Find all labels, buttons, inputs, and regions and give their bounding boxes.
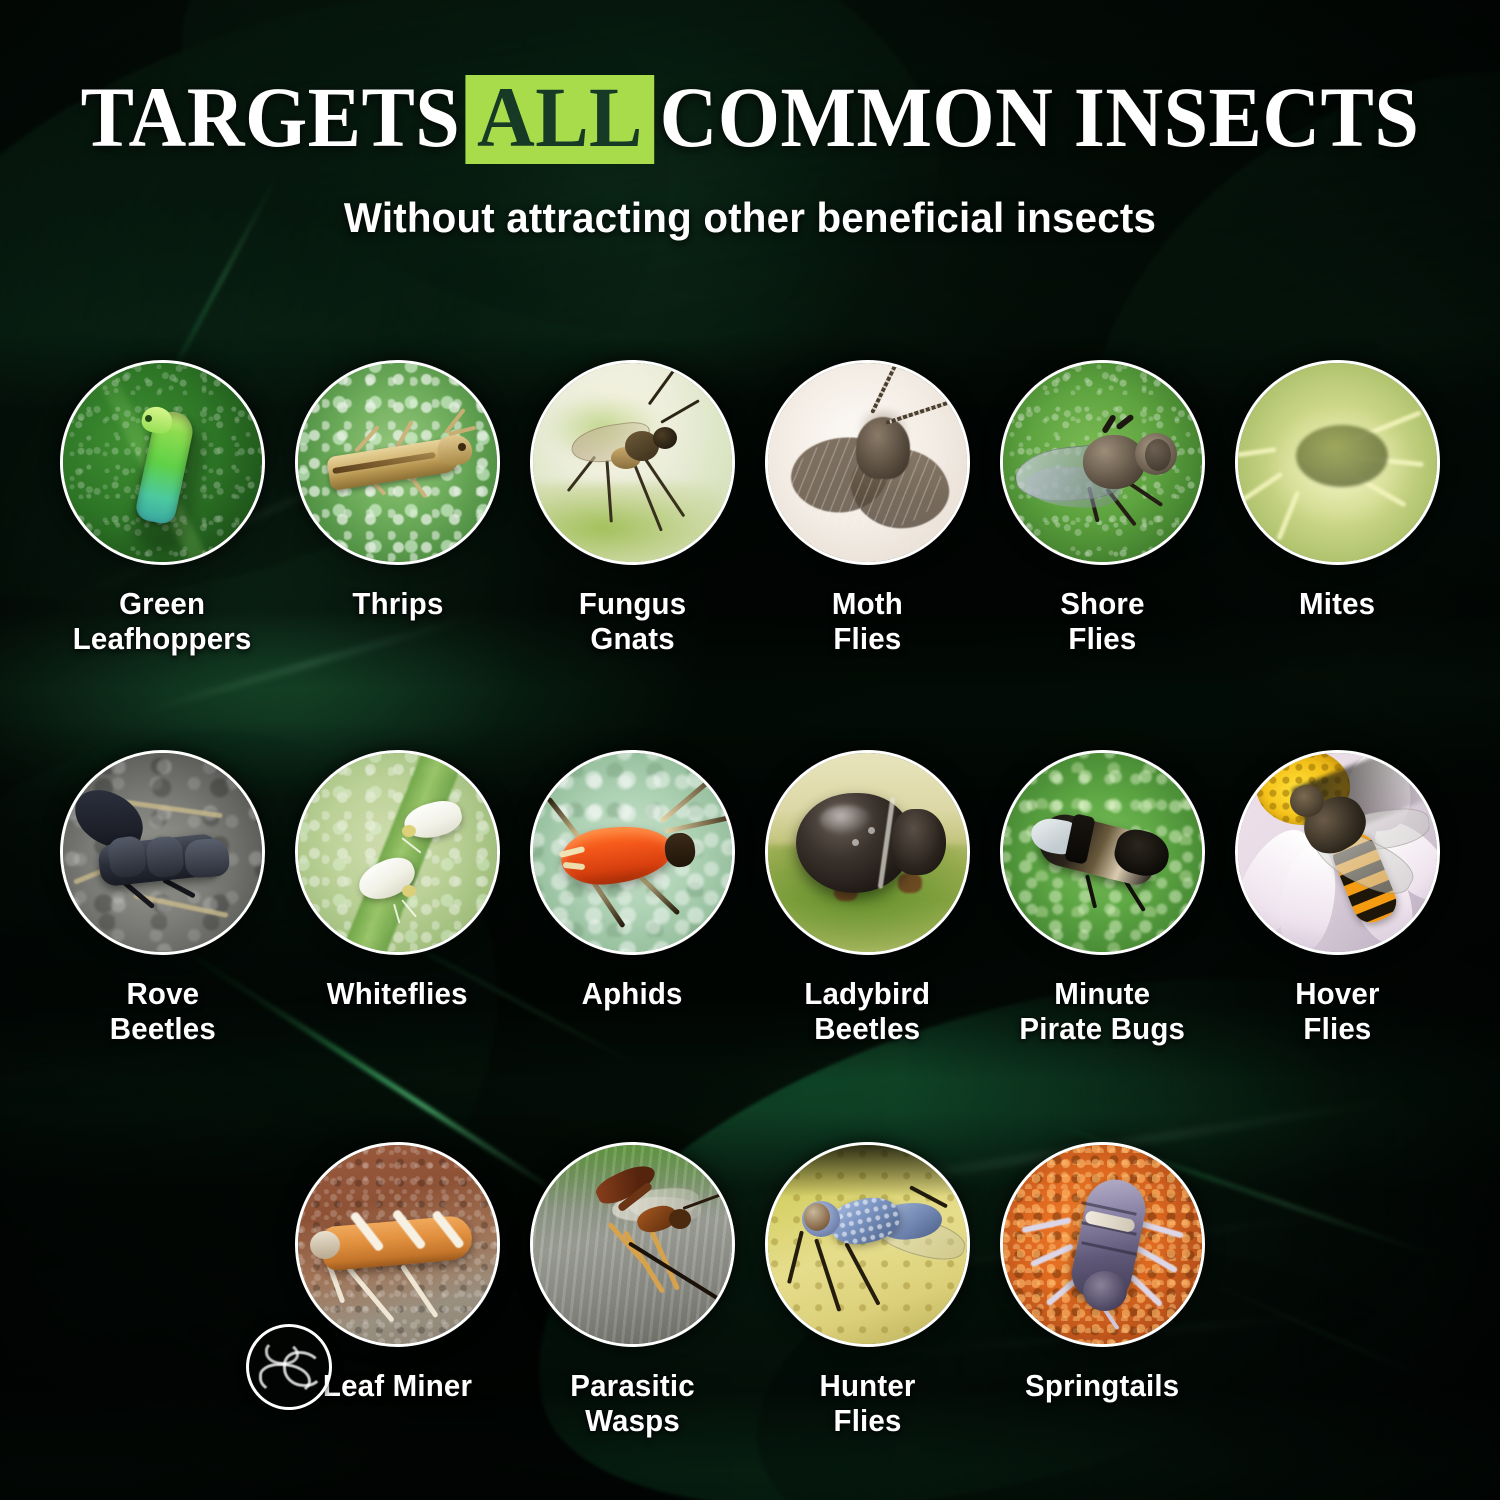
insect-label: Parasitic Wasps: [570, 1369, 695, 1438]
insect-label: Ladybird Beetles: [805, 977, 931, 1046]
insect-cell-springtails[interactable]: Springtails: [985, 1142, 1220, 1438]
springtail-photo: [1000, 1142, 1205, 1347]
insect-label: Fungus Gnats: [579, 587, 686, 656]
insect-cell-whiteflies[interactable]: Whiteflies: [280, 750, 515, 1046]
green-leafhopper-photo: [60, 360, 265, 565]
insect-label: Shore Flies: [1060, 587, 1144, 656]
hover-fly-photo: [1235, 750, 1440, 955]
aphid-photo: [530, 750, 735, 955]
insect-cell-fungus-gnats[interactable]: Fungus Gnats: [515, 360, 750, 656]
insect-label: Mites: [1299, 587, 1375, 622]
insect-target-infographic: TARGETSALLCOMMON INSECTS Without attract…: [0, 0, 1500, 1500]
mined-leaf-inset-photo: [246, 1324, 332, 1410]
insect-cell-minute-pirate-bugs[interactable]: Minute Pirate Bugs: [985, 750, 1220, 1046]
mites-photo: [1235, 360, 1440, 565]
headline-part-2: COMMON INSECTS: [660, 74, 1420, 160]
whitefly-photo: [295, 750, 500, 955]
page-subtitle: Without attracting other beneficial inse…: [30, 194, 1470, 242]
insect-cell-mites[interactable]: Mites: [1220, 360, 1455, 656]
insect-cell-hunter-flies[interactable]: Hunter Flies: [750, 1142, 985, 1438]
insect-cell-rove-beetles[interactable]: Rove Beetles: [45, 750, 280, 1046]
page-title: TARGETSALLCOMMON INSECTS: [53, 74, 1448, 164]
minute-pirate-bug-photo: [1000, 750, 1205, 955]
ladybird-beetle-photo: [765, 750, 970, 955]
insect-label: Leaf Miner: [323, 1369, 472, 1404]
moth-fly-photo: [765, 360, 970, 565]
insect-label: Rove Beetles: [109, 977, 215, 1046]
leaf-miner-photo: [295, 1142, 500, 1347]
insect-cell-shore-flies[interactable]: Shore Flies: [985, 360, 1220, 656]
insect-cell-green-leafhoppers[interactable]: Green Leafhoppers: [45, 360, 280, 656]
insect-cell-hover-flies[interactable]: Hover Flies: [1220, 750, 1455, 1046]
thrips-photo: [295, 360, 500, 565]
insect-label: Hover Flies: [1295, 977, 1379, 1046]
insect-cell-parasitic-wasps[interactable]: Parasitic Wasps: [515, 1142, 750, 1438]
parasitic-wasp-photo: [530, 1142, 735, 1347]
hunter-fly-photo: [765, 1142, 970, 1347]
insect-label: Whiteflies: [327, 977, 468, 1012]
insect-cell-thrips[interactable]: Thrips: [280, 360, 515, 656]
header: TARGETSALLCOMMON INSECTS Without attract…: [0, 74, 1500, 242]
insect-cell-moth-flies[interactable]: Moth Flies: [750, 360, 985, 656]
insect-label: Moth Flies: [832, 587, 903, 656]
insect-row-3: Leaf Miner: [0, 1142, 1500, 1438]
insect-label: Minute Pirate Bugs: [1020, 977, 1186, 1046]
headline-highlight-all: ALL: [466, 75, 654, 164]
insect-label: Green Leafhoppers: [73, 587, 252, 656]
insect-row-2: Rove Beetles Whitefl: [0, 750, 1500, 1046]
insect-label: Aphids: [582, 977, 683, 1012]
insect-cell-ladybird-beetles[interactable]: Ladybird Beetles: [750, 750, 985, 1046]
shore-fly-photo: [1000, 360, 1205, 565]
insect-label: Thrips: [352, 587, 443, 622]
insect-cell-aphids[interactable]: Aphids: [515, 750, 750, 1046]
insect-label: Springtails: [1025, 1369, 1179, 1404]
insect-row-1: Green Leafhoppers: [0, 360, 1500, 656]
rove-beetle-photo: [60, 750, 265, 955]
headline-part-1: TARGETS: [81, 74, 461, 160]
insect-label: Hunter Flies: [819, 1369, 915, 1438]
insect-cell-leaf-miner[interactable]: Leaf Miner: [280, 1142, 515, 1438]
fungus-gnat-photo: [530, 360, 735, 565]
